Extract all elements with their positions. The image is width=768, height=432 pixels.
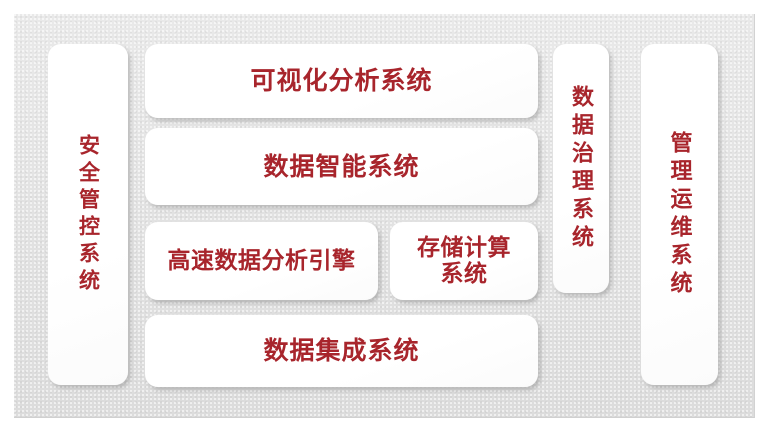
card-data-intelligence-system[interactable]: 数据智能系统 — [145, 128, 538, 205]
card-security-control-system-label: 安全管控系统 — [78, 134, 99, 296]
card-visualization-analysis-system[interactable]: 可视化分析系统 — [145, 44, 538, 118]
architecture-diagram: 安全管控系统 可视化分析系统 数据智能系统 高速数据分析引擎 存储计算 系统 数… — [0, 0, 768, 432]
card-management-operations-system[interactable]: 管理运维系统 — [641, 44, 718, 385]
card-data-integration-system-label: 数据集成系统 — [263, 337, 419, 365]
card-data-governance-system[interactable]: 数据治理系统 — [553, 44, 609, 293]
card-security-control-system[interactable]: 安全管控系统 — [48, 44, 128, 385]
card-high-speed-data-analysis-engine[interactable]: 高速数据分析引擎 — [145, 222, 378, 300]
card-management-operations-system-label: 管理运维系统 — [669, 131, 691, 299]
card-high-speed-data-analysis-engine-label: 高速数据分析引擎 — [168, 248, 356, 274]
card-data-governance-system-label: 数据治理系统 — [570, 85, 592, 253]
card-visualization-analysis-system-label: 可视化分析系统 — [250, 67, 432, 95]
card-data-integration-system[interactable]: 数据集成系统 — [145, 315, 538, 387]
card-storage-computing-system[interactable]: 存储计算 系统 — [390, 222, 538, 300]
card-data-intelligence-system-label: 数据智能系统 — [263, 153, 419, 181]
card-storage-computing-system-label: 存储计算 系统 — [417, 235, 511, 287]
